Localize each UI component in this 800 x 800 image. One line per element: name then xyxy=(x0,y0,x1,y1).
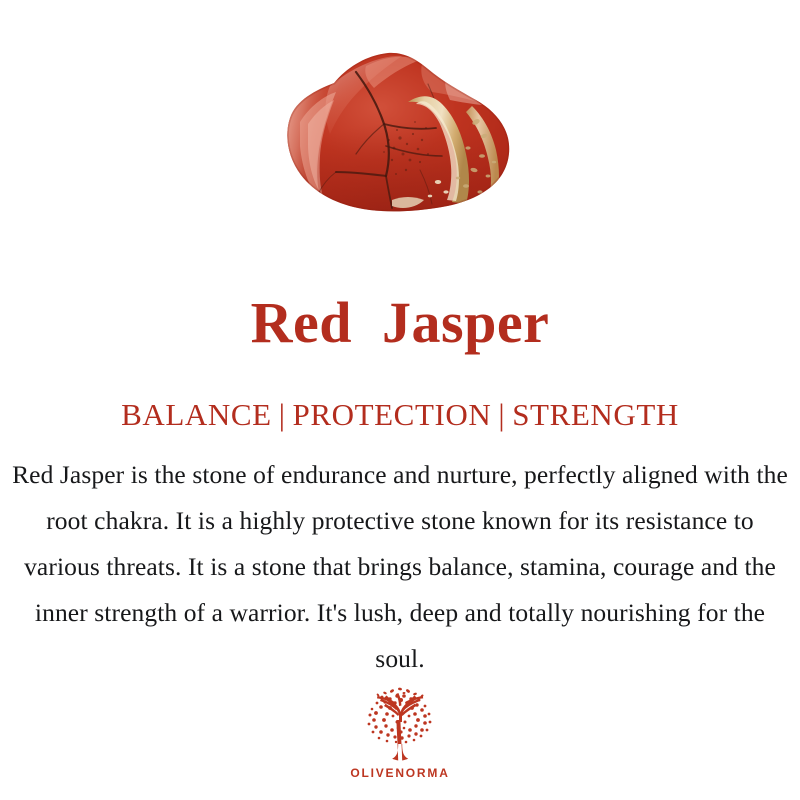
description-paragraph: Red Jasper is the stone of endurance and… xyxy=(12,452,788,682)
red-jasper-stone-image xyxy=(270,50,530,230)
keyword-line: BALANCE | PROTECTION | STRENGTH xyxy=(0,396,800,434)
stone-body xyxy=(270,50,530,230)
keyword-separator-2: | xyxy=(491,396,512,434)
page-title: Red Jasper xyxy=(0,292,800,354)
keyword-protection: PROTECTION xyxy=(293,396,492,434)
brand-name: OLIVENORMA xyxy=(350,766,449,780)
keyword-separator-1: | xyxy=(272,396,293,434)
stone-image-container xyxy=(0,0,800,280)
tree-of-life-icon xyxy=(354,686,446,762)
brand-logo: OLIVENORMA xyxy=(0,686,800,780)
keyword-strength: STRENGTH xyxy=(512,396,679,434)
keyword-balance: BALANCE xyxy=(121,396,272,434)
product-info-card: Red Jasper BALANCE | PROTECTION | STRENG… xyxy=(0,0,800,800)
